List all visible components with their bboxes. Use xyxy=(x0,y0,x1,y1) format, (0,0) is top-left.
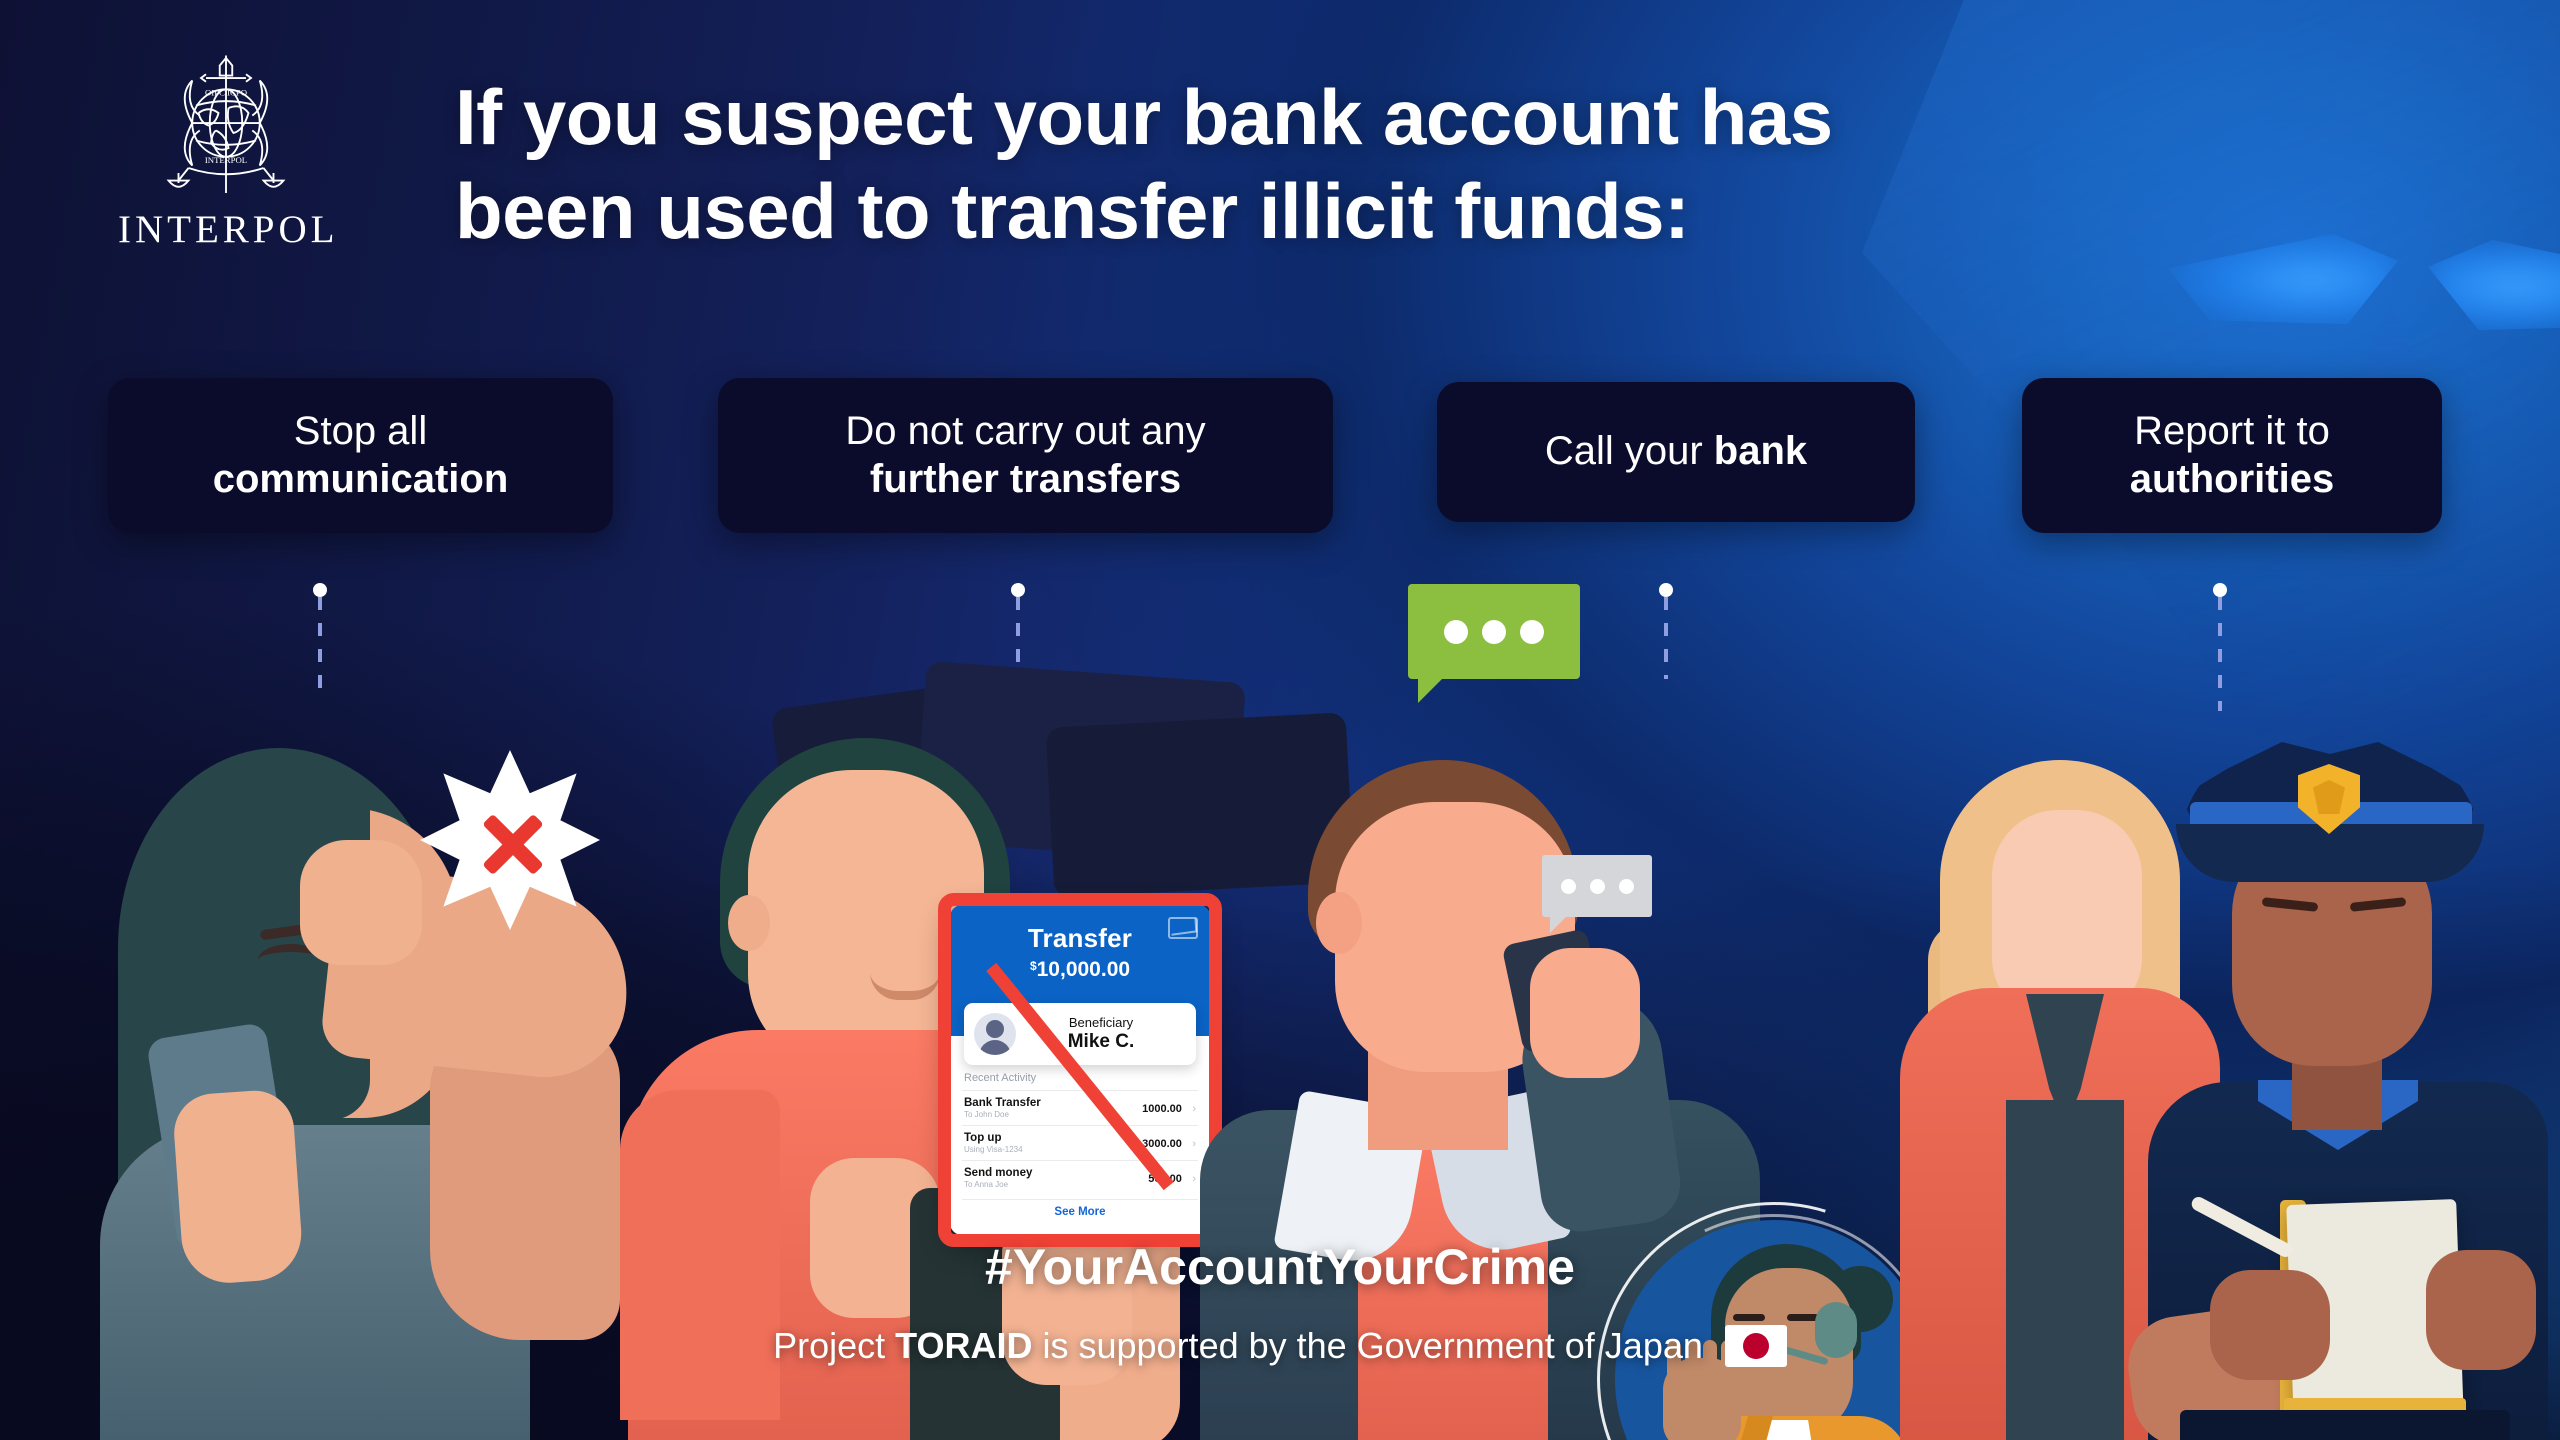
illustration-scene: 1342 Transfer $10,000.00 xyxy=(0,560,2560,1440)
red-x-icon xyxy=(477,808,549,880)
support-pre: Project xyxy=(773,1325,895,1366)
advice-card-text-bold: bank xyxy=(1714,429,1807,473)
project-name: TORAID xyxy=(895,1325,1032,1366)
heading-line-2: been used to transfer illicit funds: xyxy=(455,172,2115,252)
advice-card-call-your-bank[interactable]: Call your bank xyxy=(1437,382,1915,522)
advice-card-line-1: Call your bank xyxy=(1545,428,1807,475)
advice-card-report-authorities[interactable]: Report it to authorities xyxy=(2022,378,2442,533)
prohibition-slash xyxy=(986,963,1174,1190)
advice-card-text-regular: Call your xyxy=(1545,429,1703,473)
support-statement: Project TORAID is supported by the Gover… xyxy=(0,1325,2560,1367)
svg-text:INTERPOL: INTERPOL xyxy=(205,155,247,165)
ear xyxy=(1316,892,1362,954)
advice-card-line-2: authorities xyxy=(2130,456,2334,503)
advice-card-line-2: communication xyxy=(213,456,509,503)
japan-flag-icon xyxy=(1725,1325,1787,1367)
chat-bubble-green-icon xyxy=(1408,584,1580,679)
page-title: If you suspect your bank account has bee… xyxy=(455,78,2115,251)
transfer-screen[interactable]: Transfer $10,000.00 Beneficiary Mike C. xyxy=(950,905,1210,1235)
officer-belt xyxy=(2180,1410,2510,1440)
advice-card-stop-communication[interactable]: Stop all communication xyxy=(108,378,613,533)
svg-text:OIPC ICPO: OIPC ICPO xyxy=(205,88,247,98)
ear xyxy=(728,895,770,951)
advice-card-line-2: further transfers xyxy=(870,456,1181,503)
chat-bubble-grey-icon xyxy=(1542,855,1652,917)
brand-name: INTERPOL xyxy=(118,207,334,252)
support-text: Project TORAID is supported by the Gover… xyxy=(773,1325,1703,1367)
advice-card-line-1: Stop all xyxy=(294,408,427,455)
advice-card-line-1: Report it to xyxy=(2134,408,2330,455)
advice-card-line-1: Do not carry out any xyxy=(845,408,1205,455)
support-post: is supported by the Government of Japan xyxy=(1032,1325,1702,1366)
heading-line-1: If you suspect your bank account has xyxy=(455,73,1833,161)
red-prohibition-icon xyxy=(938,893,1222,1247)
advice-card-no-further-transfers[interactable]: Do not carry out any further transfers xyxy=(718,378,1333,533)
hand-on-forehead xyxy=(300,840,422,965)
campaign-hashtag: #YourAccountYourCrime xyxy=(0,1238,2560,1296)
hand-holding-phone xyxy=(1530,948,1640,1078)
interpol-emblem-icon: OIPC ICPO INTERPOL xyxy=(151,48,301,198)
infographic-canvas: OIPC ICPO INTERPOL INTERPOL If you suspe… xyxy=(0,0,2560,1440)
interpol-logo: OIPC ICPO INTERPOL INTERPOL xyxy=(118,48,334,252)
